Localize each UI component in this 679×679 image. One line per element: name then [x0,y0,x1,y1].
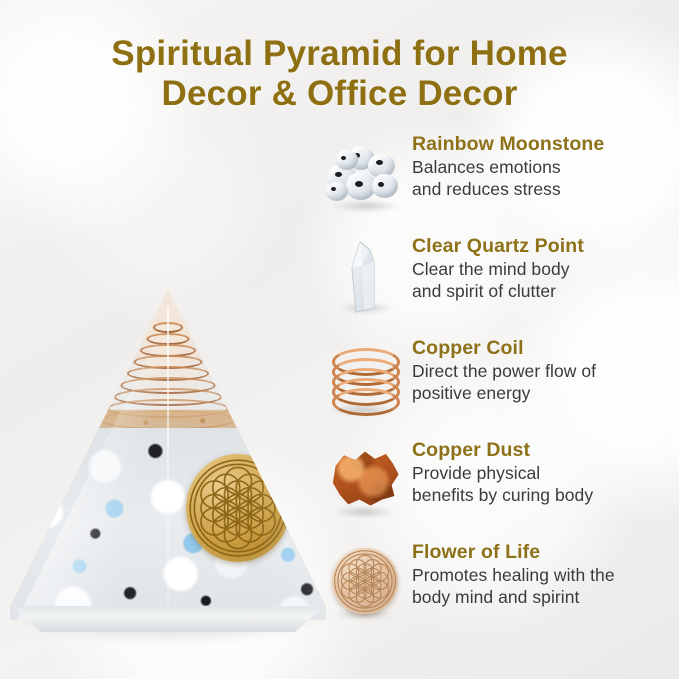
flower-of-life-disc [332,548,398,614]
feature-row: Copper Dust Provide physical benefits by… [324,438,676,540]
icon-shadow [332,506,396,518]
feature-title: Flower of Life [412,540,674,564]
feature-row: Clear Quartz Point Clear the mind body a… [324,234,676,336]
feature-desc-line-2: and reduces stress [412,179,674,201]
feature-desc-line-1: Provide physical [412,463,674,485]
pyramid-base [10,606,326,632]
feature-desc-line-2: and spirit of clutter [412,281,674,303]
pyramid [4,276,334,648]
icon-shadow [331,200,401,212]
feature-row: Flower of Life Promotes healing with the… [324,540,676,642]
copper-coil-icon [324,338,408,418]
feature-desc-line-2: benefits by curing body [412,485,674,507]
title-line-2: Decor & Office Decor [0,74,679,114]
feature-title: Rainbow Moonstone [412,132,674,156]
flower-of-life-emblem [186,454,290,562]
feature-desc-line-1: Promotes healing with the [412,565,674,587]
flower-of-life-icon [324,542,408,622]
feature-desc-line-1: Clear the mind body [412,259,674,281]
title-line-1: Spiritual Pyramid for Home [111,34,567,73]
feature-text: Flower of Life Promotes healing with the… [412,540,674,609]
feature-title: Copper Dust [412,438,674,462]
copper-dust-icon [324,440,408,520]
feature-title: Copper Coil [412,336,674,360]
feature-text: Rainbow Moonstone Balances emotions and … [412,132,674,201]
rainbow-moonstone-icon [324,134,408,214]
feature-desc-line-1: Balances emotions [412,157,674,179]
page-title: Spiritual Pyramid for Home Decor & Offic… [0,34,679,114]
clear-quartz-point-icon [324,236,408,316]
feature-row: Rainbow Moonstone Balances emotions and … [324,132,676,234]
feature-text: Copper Coil Direct the power flow of pos… [412,336,674,405]
feature-title: Clear Quartz Point [412,234,674,258]
feature-desc-line-1: Direct the power flow of [412,361,674,383]
feature-desc-line-2: body mind and spirint [412,587,674,609]
copper-dust-blob [330,448,400,508]
pyramid-body [10,290,326,620]
feature-text: Copper Dust Provide physical benefits by… [412,438,674,507]
infographic-canvas: Spiritual Pyramid for Home Decor & Offic… [0,0,679,679]
feature-text: Clear Quartz Point Clear the mind body a… [412,234,674,303]
feature-row: Copper Coil Direct the power flow of pos… [324,336,676,438]
feature-desc-line-2: positive energy [412,383,674,405]
feature-list: Rainbow Moonstone Balances emotions and … [324,132,676,642]
product-image [4,276,334,662]
